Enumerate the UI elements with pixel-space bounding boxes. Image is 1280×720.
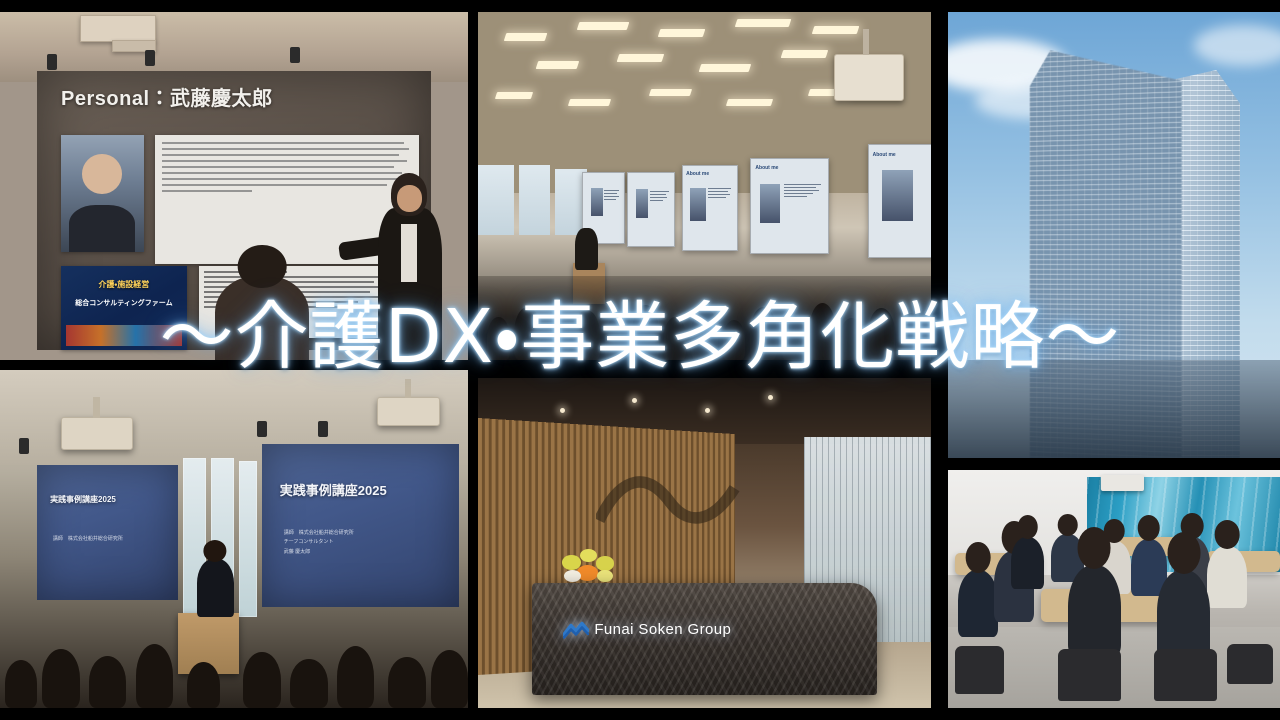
- projector-icon: [61, 417, 133, 449]
- projector-icon: [377, 397, 440, 426]
- tower-base: [948, 360, 1280, 458]
- photo-office-tower: [948, 12, 1280, 458]
- presenter-face: [397, 185, 423, 212]
- slide-headshot: [61, 135, 144, 252]
- funai-soken-group-logo: Funai Soken Group: [563, 621, 731, 639]
- track-light-icon: [47, 54, 57, 70]
- wave-mark-icon: [596, 451, 750, 550]
- photo-collage: Personal：武藤慶太郎 介護・施設経営 総合コンサルティングファーム: [0, 0, 1280, 720]
- photo-presenter-slide: Personal：武藤慶太郎 介護・施設経営 総合コンサルティングファーム: [0, 12, 468, 360]
- track-light-icon: [290, 47, 300, 63]
- reception-counter: Funai Soken Group: [532, 583, 876, 695]
- attendee-silhouette: [215, 276, 309, 360]
- projection-screen-left: 実践事例講座2025 講師 株式会社船井総合研究所: [37, 465, 177, 600]
- thumb-heading: 介護・施設経営: [99, 279, 150, 290]
- photo-group-discussion: [948, 470, 1280, 708]
- slide-title: Personal：武藤慶太郎: [61, 82, 272, 111]
- frame-bottom: [0, 708, 1280, 720]
- thumb-subheading: 総合コンサルティングファーム: [75, 298, 172, 308]
- gutter-col-2: [931, 0, 948, 720]
- wave-mark-icon: [563, 621, 589, 639]
- photo-reception-lobby: Funai Soken Group: [478, 378, 931, 708]
- screen-label: About me: [873, 152, 896, 158]
- gutter-col-1: [468, 0, 478, 720]
- gutter-right-row: [948, 458, 1280, 470]
- audience-silhouettes: [0, 634, 468, 708]
- projection-screen: [627, 172, 674, 247]
- ceiling-duct-icon: [80, 15, 157, 41]
- slide-thumbnail-site: 介護・施設経営 総合コンサルティングファーム: [61, 266, 187, 350]
- presenter-figure: [337, 165, 459, 360]
- projection-screen: About me: [682, 165, 738, 251]
- photo-lecture-room: 実践事例講座2025 講師 株式会社船井総合研究所 実践事例講座2025 講師 …: [0, 370, 468, 708]
- logo-text: Funai Soken Group: [594, 621, 731, 638]
- screen-label: About me: [686, 171, 709, 177]
- presenter-shirt: [401, 224, 417, 282]
- screen-subtitle: 講師 株式会社船井総合研究所チーフコンサルタント武藤 慶太郎: [284, 529, 354, 558]
- screen-title: 実践事例講座2025: [280, 480, 387, 499]
- gutter-mid-row: [478, 360, 931, 378]
- projection-screen: About me: [868, 144, 931, 257]
- screen-subtitle: 講師 株式会社船井総合研究所: [53, 535, 123, 545]
- screen-title: 実践事例講座2025: [50, 494, 116, 505]
- projection-screen-right: 実践事例講座2025 講師 株式会社船井総合研究所チーフコンサルタント武藤 慶太…: [262, 444, 459, 606]
- track-light-icon: [145, 50, 155, 66]
- frame-top: [0, 0, 1280, 12]
- projector-icon: [1101, 475, 1144, 492]
- gutter-left-row: [0, 360, 468, 370]
- screen-label: About me: [755, 165, 778, 171]
- photo-seminar-hall: About me About me About me: [478, 12, 931, 360]
- projector-icon: [834, 54, 904, 101]
- projection-screen: About me: [750, 158, 829, 254]
- audience-silhouettes: [478, 276, 931, 360]
- thumb-banner-strip: [66, 325, 182, 347]
- speaker-silhouette: [575, 228, 598, 270]
- speaker-figure: [197, 559, 234, 616]
